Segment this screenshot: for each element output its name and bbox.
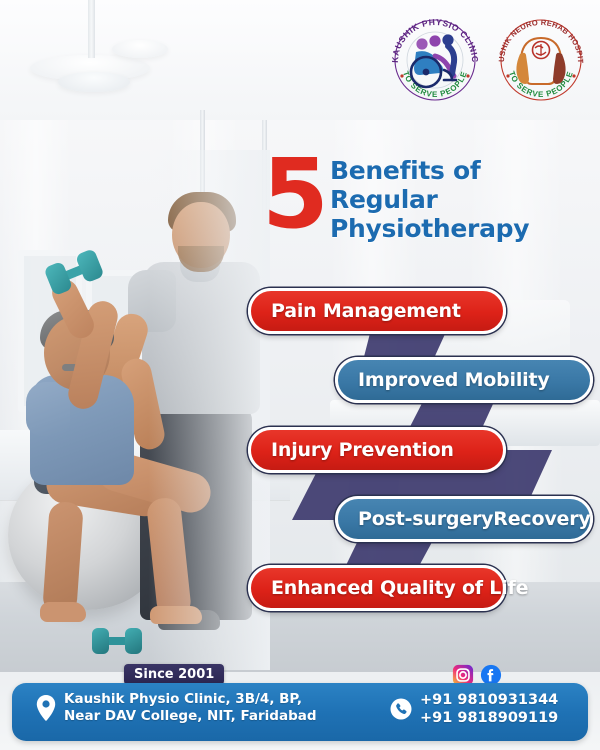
phone-block: +91 9810931344 +91 9818909119	[390, 691, 558, 727]
phone-number-2[interactable]: +91 9818909119	[420, 709, 558, 727]
address-text: Kaushik Physio Clinic, 3B/4, BP, Near DA…	[64, 691, 317, 725]
headline: 5 Benefits of Regular Physiotherapy	[262, 150, 592, 255]
phone-number-1[interactable]: +91 9810931344	[420, 691, 558, 709]
since-badge: Since 2001	[124, 664, 224, 685]
headline-text: Benefits of Regular Physiotherapy	[330, 156, 592, 243]
kaushik-neuro-rehab-hospital-logo: KAUSHIK NEURO REHAB HOSPITAL TO SERVE PE…	[494, 10, 588, 102]
benefits-list: Pain Management Improved Mobility Injury…	[248, 288, 593, 613]
benefit-label: Improved Mobility	[358, 369, 550, 391]
ceiling-lamp-inner	[58, 72, 130, 92]
logo-group: KAUSHIK PHYSIO CLINIC TO SERVE PEOPLE	[388, 10, 593, 105]
headline-number: 5	[262, 146, 325, 242]
phone-numbers: +91 9810931344 +91 9818909119	[420, 691, 558, 727]
benefit-pill-4[interactable]: Post-surgeryRecovery	[335, 496, 593, 542]
headline-line-3: Physiotherapy	[330, 214, 592, 243]
headline-line-2: Regular	[330, 185, 592, 214]
lamp-stem	[88, 0, 95, 58]
benefit-pill-1[interactable]: Pain Management	[248, 288, 506, 334]
svg-text:KAUSHIK NEURO REHAB HOSPITAL: KAUSHIK NEURO REHAB HOSPITAL	[494, 10, 585, 64]
address-line-1: Kaushik Physio Clinic, 3B/4, BP,	[64, 691, 317, 708]
photo-fade-overlay	[0, 150, 270, 670]
benefit-pill-3[interactable]: Injury Prevention	[248, 427, 506, 473]
logo-arc-text: KAUSHIK NEURO REHAB HOSPITAL	[494, 10, 585, 64]
phone-icon	[390, 698, 412, 720]
benefit-pill-2[interactable]: Improved Mobility	[335, 357, 593, 403]
address-block: Kaushik Physio Clinic, 3B/4, BP, Near DA…	[36, 691, 317, 725]
benefit-label: Pain Management	[271, 300, 461, 322]
location-pin-icon	[36, 695, 56, 721]
benefit-pill-5[interactable]: Enhanced Quality of Life	[248, 565, 506, 611]
ceiling-lamp-secondary	[112, 40, 168, 58]
benefit-label: Enhanced Quality of Life	[271, 577, 528, 599]
address-line-2: Near DAV College, NIT, Faridabad	[64, 708, 317, 725]
poster-canvas: KAUSHIK PHYSIO CLINIC TO SERVE PEOPLE	[0, 0, 600, 750]
benefit-label: Injury Prevention	[271, 439, 454, 461]
kaushik-physio-clinic-logo: KAUSHIK PHYSIO CLINIC TO SERVE PEOPLE	[388, 10, 482, 102]
contact-footer: Kaushik Physio Clinic, 3B/4, BP, Near DA…	[12, 683, 588, 741]
headline-line-1: Benefits of	[330, 156, 592, 185]
benefit-label: Post-surgeryRecovery	[358, 508, 591, 530]
